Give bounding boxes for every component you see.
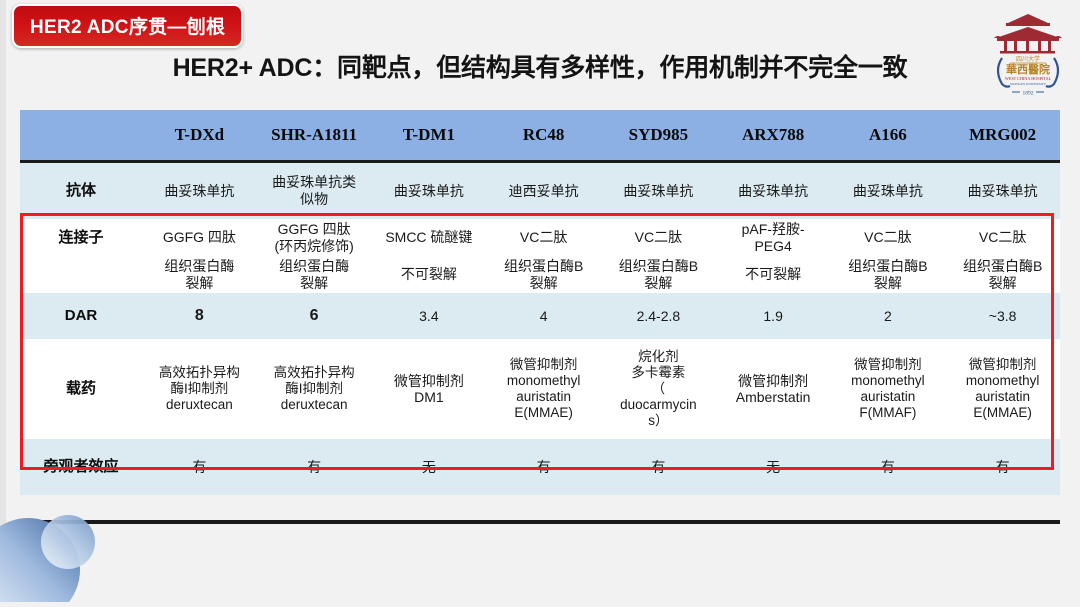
cell-linker-type-arx788: pAF-羟胺-PEG4 bbox=[716, 219, 831, 256]
column-header-t-dxd: T-DXd bbox=[142, 110, 257, 162]
svg-text:1892: 1892 bbox=[1023, 91, 1034, 97]
cell-payload-arx788: 微管抑制剂Amberstatin bbox=[716, 339, 831, 439]
table-row-dar: DAR863.442.4-2.81.92~3.8 bbox=[20, 293, 1060, 339]
table-row-linker-cleavage: 组织蛋白酶裂解组织蛋白酶裂解不可裂解组织蛋白酶B裂解组织蛋白酶B裂解不可裂解组织… bbox=[20, 256, 1060, 293]
cell-antibody-t-dm1: 曲妥珠单抗 bbox=[372, 162, 487, 220]
table-row-bystander: 旁观者效应有有无有有无有有 bbox=[20, 439, 1060, 495]
table-row-payload: 载药高效拓扑异构酶I抑制剂deruxtecan高效拓扑异构酶I抑制剂deruxt… bbox=[20, 339, 1060, 439]
decorative-circles bbox=[0, 492, 230, 602]
cell-linker-type-a166: VC二肽 bbox=[831, 219, 946, 256]
column-header-a166: A166 bbox=[831, 110, 946, 162]
table-row-antibody: 抗体曲妥珠单抗曲妥珠单抗类似物曲妥珠单抗迪西妥单抗曲妥珠单抗曲妥珠单抗曲妥珠单抗… bbox=[20, 162, 1060, 220]
cell-dar-shr-a1811: 6 bbox=[257, 293, 372, 339]
cell-bystander-shr-a1811: 有 bbox=[257, 439, 372, 495]
table-header-row: T-DXd SHR-A1811 T-DM1 RC48 SYD985 ARX788… bbox=[20, 110, 1060, 162]
row-label-bystander: 旁观者效应 bbox=[20, 439, 142, 495]
cell-bystander-a166: 有 bbox=[831, 439, 946, 495]
svg-text:SICHUAN UNIVERSITY: SICHUAN UNIVERSITY bbox=[1010, 82, 1047, 86]
page-title: HER2+ ADC：同靶点，但结构具有多样性，作用机制并不完全一致 bbox=[0, 48, 1080, 84]
row-label-linker-type: 连接子 bbox=[20, 219, 142, 256]
cell-dar-mrg002: ~3.8 bbox=[945, 293, 1060, 339]
cell-bystander-t-dm1: 无 bbox=[372, 439, 487, 495]
cell-bystander-syd985: 有 bbox=[601, 439, 716, 495]
column-header-shr-a1811: SHR-A1811 bbox=[257, 110, 372, 162]
svg-text:華西醫院: 華西醫院 bbox=[1006, 62, 1050, 76]
cell-linker-type-t-dxd: GGFG 四肽 bbox=[142, 219, 257, 256]
cell-linker-cleavage-mrg002: 组织蛋白酶B裂解 bbox=[945, 256, 1060, 293]
table-corner-cell bbox=[20, 110, 142, 162]
cell-dar-syd985: 2.4-2.8 bbox=[601, 293, 716, 339]
column-header-syd985: SYD985 bbox=[601, 110, 716, 162]
cell-payload-a166: 微管抑制剂monomethylauristatinF(MMAF) bbox=[831, 339, 946, 439]
cell-dar-t-dxd: 8 bbox=[142, 293, 257, 339]
cell-antibody-mrg002: 曲妥珠单抗 bbox=[945, 162, 1060, 220]
cell-antibody-syd985: 曲妥珠单抗 bbox=[601, 162, 716, 220]
table-body: 抗体曲妥珠单抗曲妥珠单抗类似物曲妥珠单抗迪西妥单抗曲妥珠单抗曲妥珠单抗曲妥珠单抗… bbox=[20, 162, 1060, 496]
cell-payload-t-dm1: 微管抑制剂DM1 bbox=[372, 339, 487, 439]
cell-dar-arx788: 1.9 bbox=[716, 293, 831, 339]
column-header-rc48: RC48 bbox=[486, 110, 601, 162]
cell-payload-mrg002: 微管抑制剂monomethylauristatinE(MMAE) bbox=[945, 339, 1060, 439]
cell-linker-cleavage-a166: 组织蛋白酶B裂解 bbox=[831, 256, 946, 293]
cell-antibody-arx788: 曲妥珠单抗 bbox=[716, 162, 831, 220]
section-badge: HER2 ADC序贯—刨根 bbox=[12, 4, 243, 48]
cell-antibody-t-dxd: 曲妥珠单抗 bbox=[142, 162, 257, 220]
cell-linker-cleavage-t-dxd: 组织蛋白酶裂解 bbox=[142, 256, 257, 293]
column-header-mrg002: MRG002 bbox=[945, 110, 1060, 162]
cell-linker-cleavage-shr-a1811: 组织蛋白酶裂解 bbox=[257, 256, 372, 293]
row-label-linker-cleavage bbox=[20, 256, 142, 293]
cell-linker-cleavage-arx788: 不可裂解 bbox=[716, 256, 831, 293]
cell-linker-type-rc48: VC二肽 bbox=[486, 219, 601, 256]
cell-antibody-shr-a1811: 曲妥珠单抗类似物 bbox=[257, 162, 372, 220]
cell-linker-type-shr-a1811: GGFG 四肽(环丙烷修饰) bbox=[257, 219, 372, 256]
cell-payload-rc48: 微管抑制剂monomethylauristatinE(MMAE) bbox=[486, 339, 601, 439]
row-label-payload: 载药 bbox=[20, 339, 142, 439]
cell-linker-cleavage-t-dm1: 不可裂解 bbox=[372, 256, 487, 293]
cell-linker-cleavage-syd985: 组织蛋白酶B裂解 bbox=[601, 256, 716, 293]
adc-comparison-table: T-DXd SHR-A1811 T-DM1 RC48 SYD985 ARX788… bbox=[20, 110, 1060, 495]
cell-bystander-arx788: 无 bbox=[716, 439, 831, 495]
cell-linker-type-syd985: VC二肽 bbox=[601, 219, 716, 256]
column-header-arx788: ARX788 bbox=[716, 110, 831, 162]
table-header: T-DXd SHR-A1811 T-DM1 RC48 SYD985 ARX788… bbox=[20, 110, 1060, 162]
row-label-dar: DAR bbox=[20, 293, 142, 339]
column-header-t-dm1: T-DM1 bbox=[372, 110, 487, 162]
svg-text:WEST CHINA HOSPITAL: WEST CHINA HOSPITAL bbox=[1005, 76, 1052, 81]
cell-payload-syd985: 烷化剂多卡霉素（duocarmycins） bbox=[601, 339, 716, 439]
cell-linker-type-t-dm1: SMCC 硫醚键 bbox=[372, 219, 487, 256]
cell-antibody-a166: 曲妥珠单抗 bbox=[831, 162, 946, 220]
cell-dar-a166: 2 bbox=[831, 293, 946, 339]
cell-linker-cleavage-rc48: 组织蛋白酶B裂解 bbox=[486, 256, 601, 293]
cell-antibody-rc48: 迪西妥单抗 bbox=[486, 162, 601, 220]
cell-dar-rc48: 4 bbox=[486, 293, 601, 339]
cell-linker-type-mrg002: VC二肽 bbox=[945, 219, 1060, 256]
row-label-antibody: 抗体 bbox=[20, 162, 142, 220]
cell-payload-shr-a1811: 高效拓扑异构酶I抑制剂deruxtecan bbox=[257, 339, 372, 439]
cell-dar-t-dm1: 3.4 bbox=[372, 293, 487, 339]
cell-bystander-rc48: 有 bbox=[486, 439, 601, 495]
west-china-hospital-logo: 四川大学 華西醫院 WEST CHINA HOSPITAL SICHUAN UN… bbox=[986, 8, 1070, 98]
cell-bystander-t-dxd: 有 bbox=[142, 439, 257, 495]
cell-payload-t-dxd: 高效拓扑异构酶I抑制剂deruxtecan bbox=[142, 339, 257, 439]
svg-text:四川大学: 四川大学 bbox=[1016, 55, 1040, 63]
table-row-linker-type: 连接子GGFG 四肽GGFG 四肽(环丙烷修饰)SMCC 硫醚键VC二肽VC二肽… bbox=[20, 219, 1060, 256]
cell-bystander-mrg002: 有 bbox=[945, 439, 1060, 495]
